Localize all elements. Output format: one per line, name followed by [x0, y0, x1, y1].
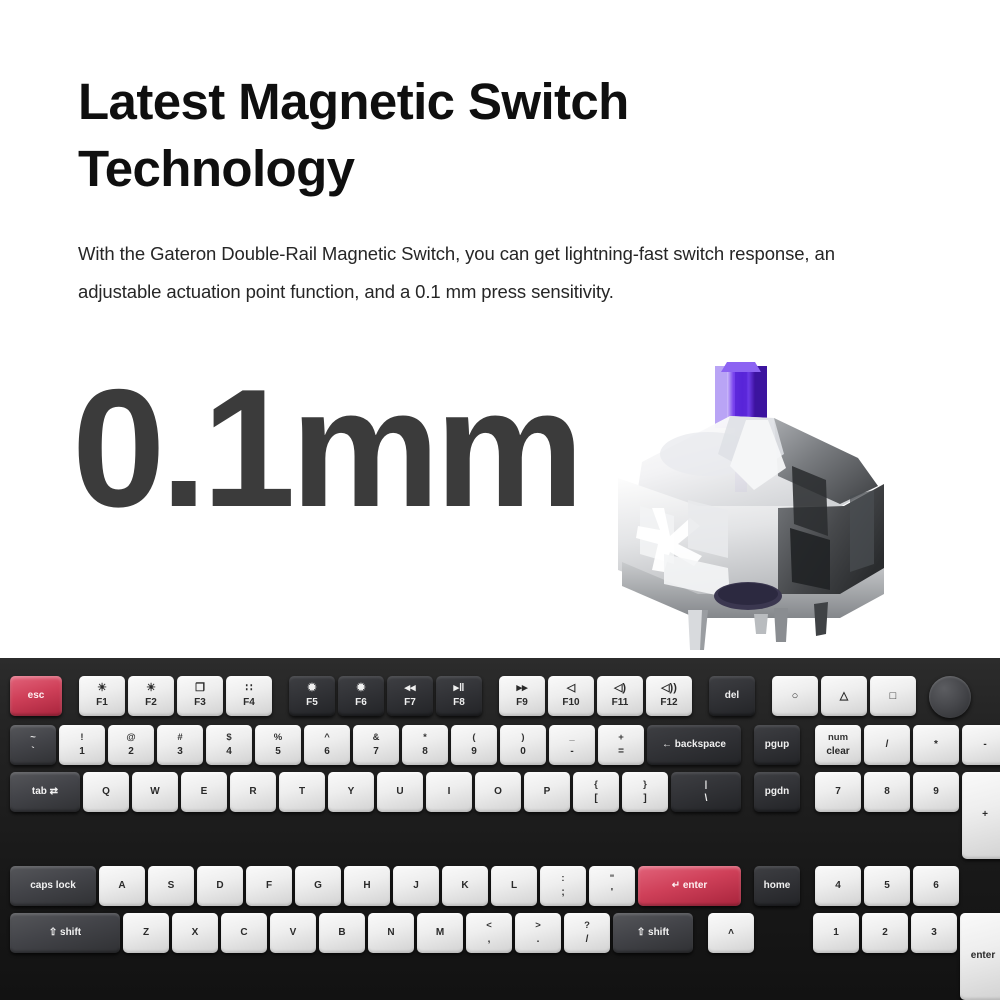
key-7[interactable]: &7 — [353, 725, 399, 765]
key-numpad-5-legend: 5 — [884, 881, 890, 892]
rotary-knob[interactable] — [929, 676, 971, 718]
key-f9[interactable]: ▸▸F9 — [499, 676, 545, 716]
key-p[interactable]: P — [524, 772, 570, 812]
key-home[interactable]: home — [754, 866, 800, 906]
key-h-legend: H — [363, 881, 370, 892]
circle-icon: ○ — [792, 691, 799, 702]
key-numpad-9[interactable]: 9 — [913, 772, 959, 812]
key-w[interactable]: W — [132, 772, 178, 812]
key-pgdn[interactable]: pgdn — [754, 772, 800, 812]
key-numpad-6-legend: 6 — [933, 881, 939, 892]
key-9[interactable]: (9 — [451, 725, 497, 765]
key-f-legend: F — [266, 881, 272, 892]
qwerty-row: tab ⇄QWERTYUIOP{[}]|\pgdn789+ — [10, 772, 990, 859]
key-minus-shift-legend: _ — [569, 733, 574, 743]
key-3-legend: 3 — [177, 747, 183, 758]
hero-copy-block: Latest Magnetic Switch Technology With t… — [78, 68, 878, 310]
key-arrow-up-legend: ˄ — [728, 928, 734, 939]
key-esc[interactable]: esc — [10, 676, 62, 716]
key-n[interactable]: N — [368, 913, 414, 953]
key-r[interactable]: R — [230, 772, 276, 812]
key-f3[interactable]: ❐F3 — [177, 676, 223, 716]
key-slash-legend: / — [586, 935, 589, 946]
key-bracket-left-legend: [ — [594, 794, 597, 805]
key-minus[interactable]: _- — [549, 725, 595, 765]
key-numpad-multiply-legend: * — [934, 740, 938, 751]
key-backslash-legend: \ — [705, 794, 708, 805]
key-home-legend: home — [764, 881, 791, 892]
key-arrow-up[interactable]: ˄ — [708, 913, 754, 953]
key-g[interactable]: G — [295, 866, 341, 906]
hero-visual: 0.1mm — [0, 360, 1000, 660]
key-numpad-4-legend: 4 — [835, 881, 841, 892]
key-num-clear-shift-legend: num — [828, 733, 848, 743]
key-f11-legend: F11 — [612, 698, 629, 709]
key-f[interactable]: F — [246, 866, 292, 906]
key-numpad-7[interactable]: 7 — [815, 772, 861, 812]
key-0-shift-legend: ) — [521, 733, 524, 743]
key-f2-legend: F2 — [145, 698, 157, 709]
key-c[interactable]: C — [221, 913, 267, 953]
key-backslash[interactable]: |\ — [671, 772, 741, 812]
key-9-legend: 9 — [471, 747, 477, 758]
key-f4-legend: F4 — [243, 698, 255, 709]
mission-control-icon: ❐ — [195, 683, 205, 694]
key-f1-legend: F1 — [96, 698, 108, 709]
key-f2[interactable]: ☀F2 — [128, 676, 174, 716]
key-period[interactable]: >. — [515, 913, 561, 953]
key-caps-lock-legend: caps lock — [30, 881, 76, 892]
key-f1[interactable]: ☀F1 — [79, 676, 125, 716]
key-pgdn-legend: pgdn — [765, 787, 789, 798]
key-shift-right-legend: ⇧ shift — [637, 928, 669, 939]
key-numpad-2-legend: 2 — [882, 928, 888, 939]
number-row: ~`!1@2#3$4%5^6&7*8(9)0_-+=← backspacepgu… — [10, 725, 990, 765]
key-f6[interactable]: ✹F6 — [338, 676, 384, 716]
brightness-down-icon: ☀ — [97, 683, 107, 694]
key-numpad-divide-legend: / — [886, 740, 889, 751]
key-e[interactable]: E — [181, 772, 227, 812]
key-f5[interactable]: ✹F5 — [289, 676, 335, 716]
hero-description: With the Gateron Double-Rail Magnetic Sw… — [78, 235, 868, 311]
key-f5-legend: F5 — [306, 698, 318, 709]
key-enter-legend: ↵ enter — [672, 881, 708, 892]
key-q[interactable]: Q — [83, 772, 129, 812]
key-numpad-enter-legend: enter — [971, 951, 995, 962]
key-tab[interactable]: tab ⇄ — [10, 772, 80, 812]
key-esc-legend: esc — [28, 691, 45, 702]
key-f8[interactable]: ▸‖F8 — [436, 676, 482, 716]
key-e-legend: E — [201, 787, 208, 798]
key-numpad-9-legend: 9 — [933, 787, 939, 798]
key-f4[interactable]: ∷F4 — [226, 676, 272, 716]
key-i[interactable]: I — [426, 772, 472, 812]
key-f7-legend: F7 — [404, 698, 416, 709]
key-s[interactable]: S — [148, 866, 194, 906]
key-f10[interactable]: ◁F10 — [548, 676, 594, 716]
key-numpad-plus[interactable]: + — [962, 772, 1000, 859]
shift-row: ⇧ shiftZXCVBNM<,>.?/⇧ shift˄123enter — [10, 913, 990, 1000]
key-3-shift-legend: # — [177, 733, 182, 743]
backlight-up-icon: ✹ — [356, 683, 365, 694]
key-9-shift-legend: ( — [472, 733, 475, 743]
key-backtick-shift-legend: ~ — [30, 733, 36, 743]
key-numpad-8[interactable]: 8 — [864, 772, 910, 812]
key-8-legend: 8 — [422, 747, 428, 758]
key-v[interactable]: V — [270, 913, 316, 953]
key-slash-shift-legend: ? — [584, 921, 590, 931]
key-numpad-plus-legend: + — [982, 810, 988, 821]
key-numpad-5[interactable]: 5 — [864, 866, 910, 906]
key-quote-legend: ' — [611, 888, 613, 899]
key-semicolon-shift-legend: : — [561, 874, 564, 884]
key-a[interactable]: A — [99, 866, 145, 906]
key-numpad-enter[interactable]: enter — [960, 913, 1000, 1000]
key-f3-legend: F3 — [194, 698, 206, 709]
key-numpad-7-legend: 7 — [835, 787, 841, 798]
key-m-legend: M — [436, 928, 444, 939]
key-equal-legend: = — [618, 747, 624, 758]
key-numpad-3[interactable]: 3 — [911, 913, 957, 953]
square-icon: □ — [890, 691, 897, 702]
key-o-legend: O — [494, 787, 502, 798]
key-a-legend: A — [118, 881, 125, 892]
key-numpad-3-legend: 3 — [931, 928, 937, 939]
key-q-legend: Q — [102, 787, 110, 798]
volume-down-icon: ◁) — [614, 683, 626, 694]
key-f7[interactable]: ◂◂F7 — [387, 676, 433, 716]
key-backspace-legend: ← backspace — [662, 740, 726, 751]
key-d-legend: D — [216, 881, 223, 892]
key-0-legend: 0 — [520, 747, 526, 758]
key-y-legend: Y — [348, 787, 355, 798]
key-5[interactable]: %5 — [255, 725, 301, 765]
function-row: esc☀F1☀F2❐F3∷F4✹F5✹F6◂◂F7▸‖F8▸▸F9◁F10◁)F… — [10, 676, 990, 718]
key-del-legend: del — [725, 691, 739, 702]
key-j[interactable]: J — [393, 866, 439, 906]
key-minus-legend: - — [570, 747, 573, 758]
key-del[interactable]: del — [709, 676, 755, 716]
key-h[interactable]: H — [344, 866, 390, 906]
key-d[interactable]: D — [197, 866, 243, 906]
key-8[interactable]: *8 — [402, 725, 448, 765]
key-1-shift-legend: ! — [80, 733, 83, 743]
key-z[interactable]: Z — [123, 913, 169, 953]
key-f12[interactable]: ◁))F12 — [646, 676, 692, 716]
key-3[interactable]: #3 — [157, 725, 203, 765]
key-g-legend: G — [314, 881, 322, 892]
key-num-clear[interactable]: numclear — [815, 725, 861, 765]
key-enter[interactable]: ↵ enter — [638, 866, 741, 906]
key-6[interactable]: ^6 — [304, 725, 350, 765]
mute-icon: ◁ — [567, 683, 575, 694]
home-row: caps lockASDFGHJKL:;"'↵ enterhome456 — [10, 866, 990, 906]
key-bracket-right[interactable]: }] — [622, 772, 668, 812]
key-numpad-6[interactable]: 6 — [913, 866, 959, 906]
key-numpad-divide[interactable]: / — [864, 725, 910, 765]
key-r-legend: R — [249, 787, 256, 798]
key-7-shift-legend: & — [373, 733, 380, 743]
key-f12-legend: F12 — [660, 698, 677, 709]
key-f9-legend: F9 — [516, 698, 528, 709]
key-4-shift-legend: $ — [226, 733, 231, 743]
key-f11[interactable]: ◁)F11 — [597, 676, 643, 716]
key-p-legend: P — [544, 787, 551, 798]
key-equal[interactable]: += — [598, 725, 644, 765]
key-o[interactable]: O — [475, 772, 521, 812]
key-5-legend: 5 — [275, 747, 281, 758]
key-2[interactable]: @2 — [108, 725, 154, 765]
key-f6-legend: F6 — [355, 698, 367, 709]
key-s-legend: S — [168, 881, 175, 892]
key-semicolon-legend: ; — [561, 888, 564, 899]
key-4[interactable]: $4 — [206, 725, 252, 765]
key-period-legend: . — [537, 935, 540, 946]
key-b[interactable]: B — [319, 913, 365, 953]
key-f8-legend: F8 — [453, 698, 465, 709]
brightness-up-icon: ☀ — [146, 683, 156, 694]
key-slash[interactable]: ?/ — [564, 913, 610, 953]
key-numpad-multiply[interactable]: * — [913, 725, 959, 765]
key-comma-legend: , — [488, 935, 491, 946]
key-2-shift-legend: @ — [126, 733, 135, 743]
key-t[interactable]: T — [279, 772, 325, 812]
key-shift-left[interactable]: ⇧ shift — [10, 913, 120, 953]
key-l[interactable]: L — [491, 866, 537, 906]
key-macro-triangle[interactable]: △ — [821, 676, 867, 716]
key-b-legend: B — [338, 928, 345, 939]
product-feature-page: Latest Magnetic Switch Technology With t… — [0, 0, 1000, 1000]
key-caps-lock[interactable]: caps lock — [10, 866, 96, 906]
key-1[interactable]: !1 — [59, 725, 105, 765]
key-numpad-minus-legend: - — [983, 740, 986, 751]
key-backspace[interactable]: ← backspace — [647, 725, 741, 765]
key-j-legend: J — [413, 881, 419, 892]
key-semicolon[interactable]: :; — [540, 866, 586, 906]
key-bracket-left[interactable]: {[ — [573, 772, 619, 812]
key-l-legend: L — [511, 881, 517, 892]
key-shift-right[interactable]: ⇧ shift — [613, 913, 693, 953]
triangle-icon: △ — [840, 691, 848, 702]
key-comma[interactable]: <, — [466, 913, 512, 953]
key-u[interactable]: U — [377, 772, 423, 812]
key-5-shift-legend: % — [274, 733, 282, 743]
magnetic-switch-image — [578, 358, 928, 658]
key-c-legend: C — [240, 928, 247, 939]
key-n-legend: N — [387, 928, 394, 939]
key-2-legend: 2 — [128, 747, 134, 758]
key-numpad-minus[interactable]: - — [962, 725, 1000, 765]
key-pgup-legend: pgup — [765, 740, 789, 751]
key-z-legend: Z — [143, 928, 149, 939]
key-comma-shift-legend: < — [486, 921, 492, 931]
key-1-legend: 1 — [79, 747, 85, 758]
key-y[interactable]: Y — [328, 772, 374, 812]
fast-forward-icon: ▸▸ — [516, 683, 527, 694]
key-bracket-left-shift-legend: { — [594, 780, 598, 790]
key-4-legend: 4 — [226, 747, 232, 758]
key-x-legend: X — [192, 928, 199, 939]
key-quote-shift-legend: " — [610, 874, 615, 884]
key-period-shift-legend: > — [535, 921, 541, 931]
key-bracket-right-shift-legend: } — [643, 780, 647, 790]
key-7-legend: 7 — [373, 747, 379, 758]
key-shift-left-legend: ⇧ shift — [49, 928, 81, 939]
key-numpad-1-legend: 1 — [833, 928, 839, 939]
key-8-shift-legend: * — [423, 733, 427, 743]
page-title: Latest Magnetic Switch Technology — [78, 68, 778, 203]
key-num-clear-legend: clear — [826, 747, 849, 758]
key-x[interactable]: X — [172, 913, 218, 953]
key-6-legend: 6 — [324, 747, 330, 758]
play-pause-icon: ▸‖ — [454, 683, 465, 694]
backlight-down-icon: ✹ — [307, 683, 316, 694]
key-backtick[interactable]: ~` — [10, 725, 56, 765]
keyboard: esc☀F1☀F2❐F3∷F4✹F5✹F6◂◂F7▸‖F8▸▸F9◁F10◁)F… — [0, 658, 1000, 1000]
key-i-legend: I — [448, 787, 451, 798]
measurement-label: 0.1mm — [72, 364, 579, 532]
key-f10-legend: F10 — [562, 698, 579, 709]
key-bracket-right-legend: ] — [643, 794, 646, 805]
key-m[interactable]: M — [417, 913, 463, 953]
key-macro-circle[interactable]: ○ — [772, 676, 818, 716]
key-equal-shift-legend: + — [618, 733, 624, 743]
rewind-icon: ◂◂ — [404, 683, 415, 694]
key-t-legend: T — [299, 787, 305, 798]
key-0[interactable]: )0 — [500, 725, 546, 765]
key-backslash-shift-legend: | — [705, 780, 708, 790]
volume-up-icon: ◁)) — [661, 683, 677, 694]
key-k[interactable]: K — [442, 866, 488, 906]
key-backtick-legend: ` — [31, 747, 34, 758]
key-pgup[interactable]: pgup — [754, 725, 800, 765]
key-quote[interactable]: "' — [589, 866, 635, 906]
key-numpad-2[interactable]: 2 — [862, 913, 908, 953]
key-macro-square[interactable]: □ — [870, 676, 916, 716]
key-tab-legend: tab ⇄ — [32, 787, 58, 798]
launchpad-grid-icon: ∷ — [246, 683, 253, 694]
key-6-shift-legend: ^ — [324, 733, 330, 743]
key-numpad-4[interactable]: 4 — [815, 866, 861, 906]
key-k-legend: K — [461, 881, 468, 892]
key-numpad-8-legend: 8 — [884, 787, 890, 798]
key-numpad-1[interactable]: 1 — [813, 913, 859, 953]
key-v-legend: V — [290, 928, 297, 939]
key-w-legend: W — [150, 787, 159, 798]
key-u-legend: U — [396, 787, 403, 798]
